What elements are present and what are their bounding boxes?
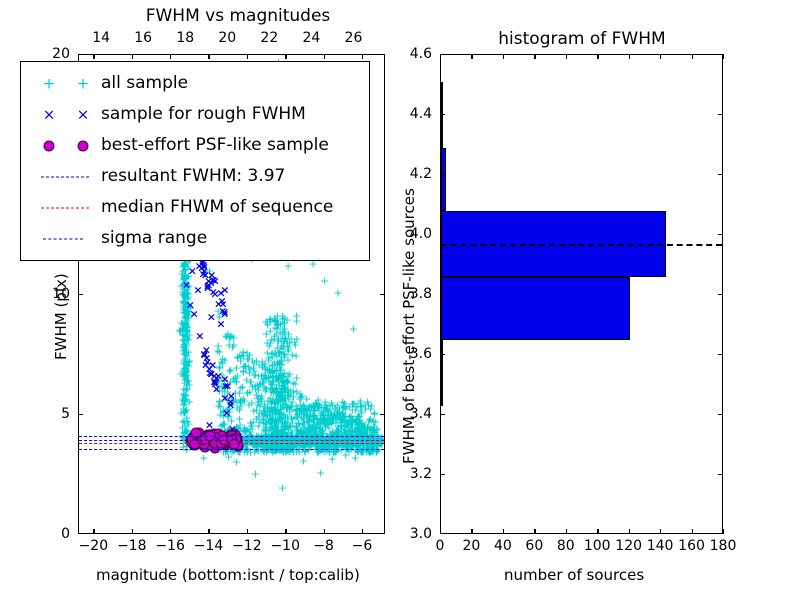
scatter-point-all: + [284, 389, 293, 400]
scatter-point-all: + [181, 317, 190, 328]
scatter-point-all: + [281, 395, 290, 406]
scatter-point-all: + [285, 401, 294, 412]
scatter-point-all: + [272, 385, 281, 396]
scatter-point-all: + [346, 429, 355, 440]
scatter-point-all: + [315, 404, 324, 415]
scatter-point-all: + [271, 375, 280, 386]
scatter-point-all: + [340, 420, 349, 431]
scatter-point-all: + [302, 405, 311, 416]
scatter-point-all: + [183, 294, 192, 305]
scatter-point-all: + [178, 329, 187, 340]
scatter-point-all: + [181, 317, 190, 328]
x-top-tick-label: 26 [345, 30, 363, 46]
scatter-point-all: + [176, 407, 185, 418]
scatter-point-all: + [254, 393, 263, 404]
scatter-point-all: + [181, 353, 190, 364]
scatter-point-all: + [372, 445, 381, 456]
scatter-point-all: + [345, 445, 354, 456]
scatter-point-all: + [323, 414, 332, 425]
scatter-point-all: + [348, 422, 357, 433]
scatter-point-all: + [329, 410, 338, 421]
scatter-point-all: + [269, 367, 278, 378]
scatter-point-all: + [245, 386, 254, 397]
scatter-point-all: + [366, 446, 375, 457]
scatter-point-all: + [180, 286, 189, 297]
scatter-point-all: + [272, 372, 281, 383]
scatter-point-all: + [215, 312, 224, 323]
scatter-point-rough: × [220, 285, 229, 296]
scatter-point-all: + [280, 436, 289, 447]
scatter-point-all: + [265, 314, 274, 325]
scatter-point-all: + [260, 362, 269, 373]
scatter-point-all: + [183, 426, 192, 437]
scatter-point-all: + [180, 279, 189, 290]
scatter-point-rough: × [202, 345, 211, 356]
scatter-point-all: + [275, 390, 284, 401]
scatter-point-all: + [277, 377, 286, 388]
scatter-point-all: + [340, 436, 349, 447]
scatter-point-all: + [266, 436, 275, 447]
scatter-point-all: + [248, 356, 257, 367]
legend-marker-dashdot-line-icon [29, 227, 101, 251]
scatter-point-all: + [369, 416, 378, 427]
scatter-point-psf [190, 428, 201, 439]
scatter-point-all: + [292, 400, 301, 411]
scatter-point-all: + [357, 436, 366, 447]
scatter-point-all: + [321, 420, 330, 431]
scatter-point-all: + [239, 367, 248, 378]
scatter-point-all: + [330, 402, 339, 413]
scatter-point-all: + [274, 336, 283, 347]
scatter-point-all: + [316, 425, 325, 436]
scatter-point-all: + [180, 397, 189, 408]
scatter-point-all: + [279, 377, 288, 388]
scatter-point-rough: × [210, 377, 219, 388]
scatter-point-all: + [354, 445, 363, 456]
scatter-point-all: + [262, 403, 271, 414]
scatter-point-all: + [361, 399, 370, 410]
scatter-point-all: + [259, 409, 268, 420]
scatter-point-all: + [357, 401, 366, 412]
scatter-point-all: + [306, 432, 315, 443]
scatter-point-all: + [348, 414, 357, 425]
scatter-point-all: + [184, 334, 193, 345]
scatter-point-all: + [234, 428, 243, 439]
scatter-point-all: + [269, 388, 278, 399]
scatter-point-all: + [227, 436, 236, 447]
scatter-point-all: + [266, 418, 275, 429]
scatter-point-all: + [276, 374, 285, 385]
scatter-point-all: + [268, 364, 277, 375]
scatter-point-all: + [288, 378, 297, 389]
scatter-point-all: + [272, 320, 281, 331]
scatter-point-all: + [274, 320, 283, 331]
scatter-point-all: + [181, 370, 190, 381]
scatter-point-all: + [319, 428, 328, 439]
scatter-point-all: + [275, 371, 284, 382]
scatter-point-all: + [218, 385, 227, 396]
scatter-point-all: + [253, 436, 262, 447]
scatter-point-all: + [310, 416, 319, 427]
scatter-point-all: + [302, 413, 311, 424]
scatter-point-all: + [350, 432, 359, 443]
scatter-point-all: + [182, 346, 191, 357]
scatter-point-all: + [254, 446, 263, 457]
scatter-point-all: + [304, 436, 313, 447]
scatter-point-all: + [306, 432, 315, 443]
scatter-point-all: + [181, 298, 190, 309]
scatter-point-all: + [179, 399, 188, 410]
scatter-point-all: + [333, 399, 342, 410]
scatter-point-all: + [268, 347, 277, 358]
legend-item[interactable]: ++all sample [29, 68, 359, 99]
scatter-point-all: + [270, 446, 279, 457]
scatter-point-all: + [289, 436, 298, 447]
scatter-point-all: + [217, 357, 226, 368]
scatter-point-all: + [304, 425, 313, 436]
scatter-point-all: + [357, 419, 366, 430]
scatter-point-all: + [293, 436, 302, 447]
scatter-point-all: + [181, 304, 190, 315]
scatter-point-all: + [268, 413, 277, 424]
scatter-point-all: + [184, 347, 193, 358]
scatter-point-all: + [292, 373, 301, 384]
scatter-point-all: + [294, 428, 303, 439]
scatter-point-all: + [230, 445, 239, 456]
scatter-point-all: + [261, 364, 270, 375]
scatter-point-all: + [180, 342, 189, 353]
scatter-point-all: + [271, 398, 280, 409]
scatter-point-all: + [182, 281, 191, 292]
x-tick-label: 40 [494, 538, 512, 554]
scatter-point-all: + [370, 436, 379, 447]
scatter-point-all: + [300, 422, 309, 433]
scatter-point-all: + [235, 404, 244, 415]
scatter-point-psf [194, 428, 205, 439]
scatter-point-all: + [367, 400, 376, 411]
scatter-point-all: + [346, 412, 355, 423]
scatter-point-all: + [227, 415, 236, 426]
scatter-point-all: + [330, 432, 339, 443]
scatter-point-all: + [279, 341, 288, 352]
scatter-point-all: + [316, 408, 325, 419]
scatter-point-rough: × [220, 373, 229, 384]
scatter-point-all: + [231, 372, 240, 383]
scatter-point-rough: × [210, 288, 219, 299]
scatter-point-rough: × [203, 357, 212, 368]
scatter-point-all: + [342, 429, 351, 440]
scatter-point-all: + [272, 366, 281, 377]
scatter-point-all: + [282, 445, 291, 456]
legend-marker-dashed-line-icon [29, 196, 101, 220]
scatter-point-all: + [275, 444, 284, 455]
scatter-point-all: + [263, 364, 272, 375]
scatter-point-rough: × [212, 383, 221, 394]
scatter-point-all: + [302, 425, 311, 436]
scatter-point-rough: × [216, 318, 225, 329]
scatter-point-all: + [284, 429, 293, 440]
scatter-point-all: + [356, 414, 365, 425]
scatter-point-all: + [335, 428, 344, 439]
scatter-point-all: + [349, 323, 358, 334]
scatter-point-all: + [183, 305, 192, 316]
scatter-point-all: + [244, 353, 253, 364]
scatter-point-all: + [271, 410, 280, 421]
scatter-point-all: + [260, 370, 269, 381]
scatter-point-all: + [268, 360, 277, 371]
scatter-point-all: + [256, 432, 265, 443]
scatter-point-all: + [221, 404, 230, 415]
scatter-point-all: + [340, 422, 349, 433]
scatter-point-all: + [308, 435, 317, 446]
scatter-point-all: + [340, 429, 349, 440]
scatter-point-all: + [180, 270, 189, 281]
scatter-point-all: + [283, 429, 292, 440]
x-tick-label: 20 [463, 538, 481, 554]
scatter-point-psf [216, 432, 227, 443]
legend-item[interactable]: ××sample for rough FWHM [29, 99, 359, 130]
scatter-point-rough: × [214, 298, 223, 309]
scatter-point-all: + [353, 420, 362, 431]
scatter-point-all: + [180, 406, 189, 417]
scatter-point-all: + [266, 383, 275, 394]
scatter-point-all: + [181, 389, 190, 400]
scatter-point-all: + [338, 407, 347, 418]
scatter-point-rough: × [205, 368, 214, 379]
scatter-point-all: + [341, 410, 350, 421]
scatter-point-all: + [325, 414, 334, 425]
scatter-point-all: + [364, 436, 373, 447]
scatter-point-all: + [348, 398, 357, 409]
scatter-point-all: + [179, 358, 188, 369]
scatter-point-all: + [287, 411, 296, 422]
x-tick-label: −20 [79, 538, 109, 554]
scatter-point-all: + [281, 334, 290, 345]
scatter-point-all: + [205, 266, 214, 277]
scatter-point-all: + [243, 387, 252, 398]
annotation-line-sigma-range-upper [79, 436, 384, 437]
scatter-point-all: + [280, 317, 289, 328]
scatter-point-all: + [278, 391, 287, 402]
scatter-point-all: + [287, 404, 296, 415]
scatter-point-all: + [267, 349, 276, 360]
scatter-point-all: + [322, 403, 331, 414]
scatter-point-all: + [181, 273, 190, 284]
scatter-point-all: + [366, 403, 375, 414]
scatter-point-all: + [235, 414, 244, 425]
scatter-point-all: + [181, 319, 190, 330]
scatter-point-all: + [180, 307, 189, 318]
scatter-point-all: + [319, 408, 328, 419]
scatter-point-all: + [181, 270, 190, 281]
scatter-point-all: + [282, 377, 291, 388]
scatter-point-all: + [219, 406, 228, 417]
scatter-point-all: + [278, 329, 287, 340]
scatter-point-all: + [377, 432, 385, 443]
scatter-point-all: + [219, 407, 228, 418]
scatter-point-all: + [271, 411, 280, 422]
scatter-point-all: + [321, 396, 330, 407]
scatter-point-all: + [256, 393, 265, 404]
scatter-point-all: + [181, 385, 190, 396]
scatter-point-all: + [179, 288, 188, 299]
scatter-point-all: + [268, 436, 277, 447]
scatter-point-all: + [227, 395, 236, 406]
scatter-point-all: + [183, 417, 192, 428]
scatter-point-all: + [221, 407, 230, 418]
scatter-point-all: + [181, 371, 190, 382]
scatter-point-all: + [183, 307, 192, 318]
scatter-point-all: + [269, 405, 278, 416]
scatter-point-all: + [223, 445, 232, 456]
scatter-point-all: + [316, 422, 325, 433]
scatter-point-all: + [274, 379, 283, 390]
scatter-point-all: + [337, 414, 346, 425]
scatter-point-all: + [232, 397, 241, 408]
scatter-point-all: + [292, 333, 301, 344]
scatter-point-all: + [293, 412, 302, 423]
scatter-point-all: + [357, 408, 366, 419]
scatter-point-all: + [184, 280, 193, 291]
scatter-point-all: + [179, 272, 188, 283]
scatter-point-all: + [293, 426, 302, 437]
scatter-point-all: + [279, 370, 288, 381]
scatter-point-rough: × [195, 330, 204, 341]
scatter-point-all: + [305, 400, 314, 411]
scatter-point-all: + [271, 424, 280, 435]
scatter-point-all: + [319, 411, 328, 422]
legend-item[interactable]: best-effort PSF-like sample [29, 130, 359, 161]
scatter-point-all: + [302, 393, 311, 404]
scatter-point-all: + [354, 410, 363, 421]
scatter-point-all: + [179, 301, 188, 312]
x-top-tick-label: 16 [134, 30, 152, 46]
scatter-point-all: + [274, 334, 283, 345]
scatter-point-all: + [179, 392, 188, 403]
scatter-point-all: + [271, 445, 280, 456]
scatter-point-all: + [305, 404, 314, 415]
scatter-point-all: + [253, 436, 262, 447]
scatter-point-all: + [370, 408, 379, 419]
scatter-point-all: + [336, 436, 345, 447]
scatter-point-all: + [271, 402, 280, 413]
scatter-point-all: + [183, 359, 192, 370]
scatter-point-all: + [359, 425, 368, 436]
scatter-point-all: + [240, 396, 249, 407]
scatter-point-all: + [282, 444, 291, 455]
scatter-point-all: + [338, 415, 347, 426]
scatter-point-all: + [327, 412, 336, 423]
scatter-point-all: + [290, 412, 299, 423]
scatter-point-all: + [365, 415, 374, 426]
scatter-point-all: + [288, 417, 297, 428]
scatter-point-all: + [180, 300, 189, 311]
legend-item[interactable]: resultant FWHM: 3.97 [29, 161, 359, 192]
scatter-point-all: + [280, 417, 289, 428]
scatter-point-all: + [179, 296, 188, 307]
scatter-point-all: + [364, 436, 373, 447]
scatter-point-all: + [261, 418, 270, 429]
legend-item[interactable]: median FHWM of sequence [29, 192, 359, 223]
scatter-point-all: + [314, 416, 323, 427]
scatter-point-all: + [281, 419, 290, 430]
scatter-point-all: + [215, 362, 224, 373]
scatter-point-all: + [248, 382, 257, 393]
scatter-point-all: + [358, 423, 367, 434]
scatter-point-all: + [307, 436, 316, 447]
scatter-point-all: + [181, 272, 190, 283]
scatter-point-all: + [283, 338, 292, 349]
scatter-point-all: + [181, 311, 190, 322]
scatter-point-all: + [249, 436, 258, 447]
scatter-point-all: + [180, 407, 189, 418]
scatter-point-all: + [278, 380, 287, 391]
legend-item[interactable]: sigma range [29, 223, 359, 254]
scatter-point-all: + [235, 420, 244, 431]
scatter-point-all: + [297, 408, 306, 419]
scatter-point-all: + [259, 410, 268, 421]
scatter-point-all: + [271, 436, 280, 447]
scatter-point-all: + [316, 432, 325, 443]
scatter-point-all: + [180, 356, 189, 367]
scatter-point-all: + [259, 445, 268, 456]
y-tick-label: 3.0 [410, 526, 432, 542]
scatter-point-all: + [216, 409, 225, 420]
scatter-point-all: + [266, 444, 275, 455]
scatter-point-all: + [290, 336, 299, 347]
scatter-point-all: + [259, 414, 268, 425]
scatter-point-all: + [182, 331, 191, 342]
scatter-point-all: + [268, 365, 277, 376]
x-tick-label: 80 [557, 538, 575, 554]
scatter-point-rough: × [209, 274, 218, 285]
scatter-point-all: + [294, 436, 303, 447]
scatter-point-all: + [258, 376, 267, 387]
scatter-point-all: + [275, 386, 284, 397]
scatter-point-all: + [283, 402, 292, 413]
scatter-point-all: + [373, 436, 382, 447]
histogram-median-line [441, 244, 722, 246]
scatter-point-all: + [184, 292, 193, 303]
scatter-point-all: + [283, 413, 292, 424]
scatter-point-all: + [244, 445, 253, 456]
scatter-point-all: + [231, 428, 240, 439]
scatter-point-all: + [264, 429, 273, 440]
scatter-point-all: + [321, 406, 330, 417]
x-tick-label: −16 [155, 538, 185, 554]
scatter-point-all: + [258, 377, 267, 388]
scatter-point-all: + [350, 422, 359, 433]
scatter-point-all: + [276, 389, 285, 400]
scatter-point-all: + [322, 436, 331, 447]
x-top-tick-label: 24 [302, 30, 320, 46]
scatter-point-all: + [179, 307, 188, 318]
scatter-point-all: + [267, 405, 276, 416]
scatter-point-all: + [272, 394, 281, 405]
scatter-point-all: + [255, 408, 264, 419]
scatter-point-all: + [275, 415, 284, 426]
scatter-point-all: + [180, 274, 189, 285]
scatter-point-all: + [320, 412, 329, 423]
scatter-point-all: + [299, 419, 308, 430]
scatter-point-all: + [251, 380, 260, 391]
scatter-point-all: + [229, 333, 238, 344]
scatter-point-all: + [247, 421, 256, 432]
scatter-point-all: + [183, 312, 192, 323]
scatter-point-all: + [259, 418, 268, 429]
scatter-point-all: + [333, 287, 342, 298]
scatter-point-all: + [328, 454, 337, 465]
